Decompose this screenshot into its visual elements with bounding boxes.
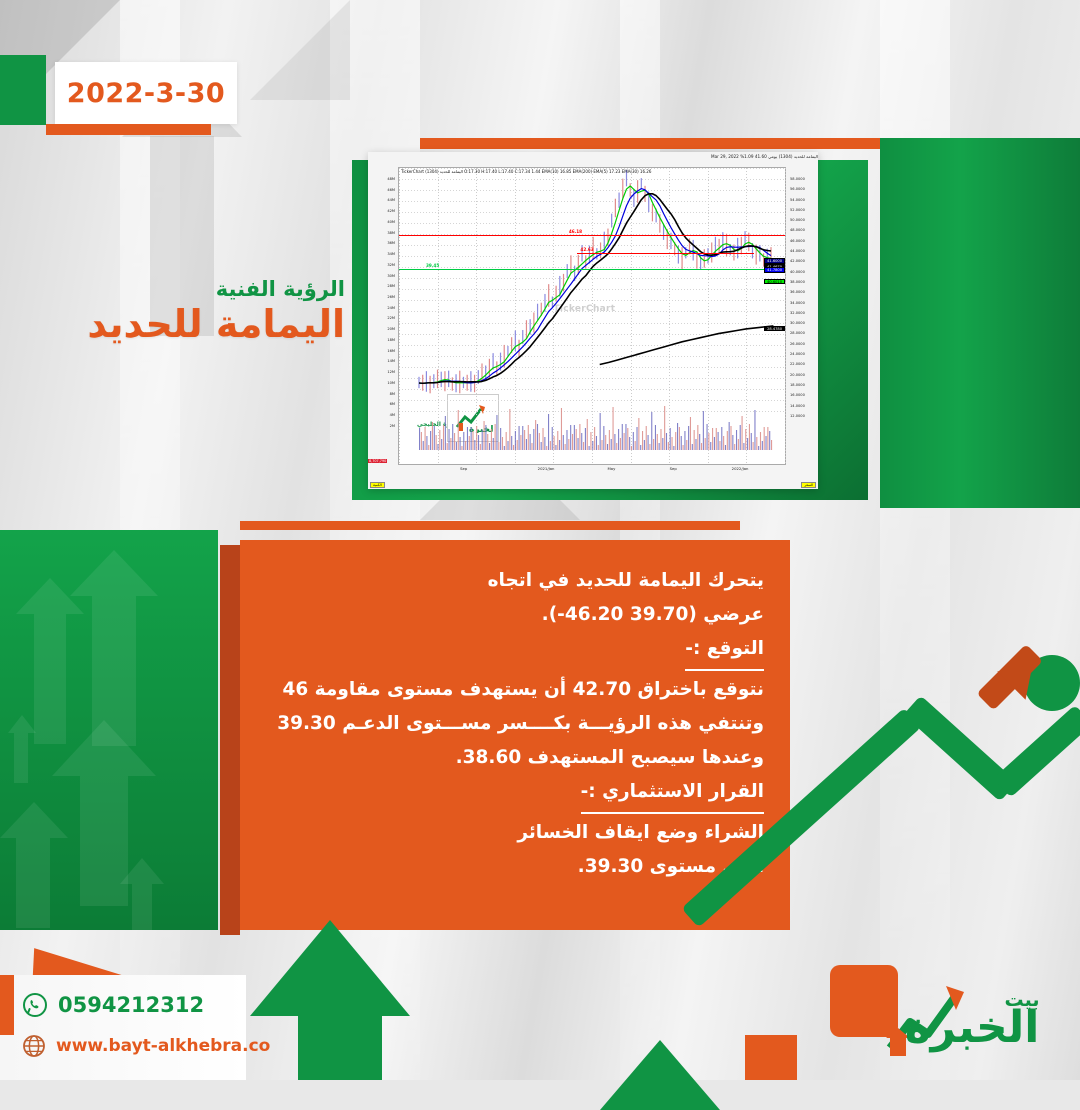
volume-axis-tick: 36M [387, 242, 395, 246]
volume-axis-tick: 38M [387, 232, 395, 236]
volume-axis-tick: 28M [387, 285, 395, 289]
contact-phone[interactable]: 0594212312 [22, 992, 204, 1018]
arrow-up-icon [14, 733, 28, 783]
decorative-green-panel [0, 530, 218, 930]
date-axis-tick: Sep [670, 466, 677, 471]
volume-axis-tick: 12M [387, 371, 395, 375]
volume-axis-tick: 44M [387, 199, 395, 203]
price-axis-tick: 32.0000 [790, 312, 805, 316]
chart-volume-axis-tag: الكمية [370, 482, 385, 488]
support-line [399, 269, 785, 270]
page-title: الرؤية الفنية اليمامة للحديد [60, 278, 345, 347]
chart-gridline [785, 168, 786, 464]
date-axis-tick: Sep [460, 466, 467, 471]
price-axis-tick: 16.0000 [790, 394, 805, 398]
forecast-line-3: وعندها سيصبح المستهدف 38.60. [266, 741, 764, 775]
volume-axis-tick: 42M [387, 210, 395, 214]
volume-axis-tick: 6M [390, 403, 395, 407]
price-axis-tick: 48.0000 [790, 229, 805, 233]
chart-volume-axis: 48M46M44M42M40M38M36M34M32M30M28M26M24M2… [368, 178, 398, 465]
volume-axis-tick: 26M [387, 296, 395, 300]
volume-axis-tick: 10M [387, 382, 395, 386]
price-axis-tick: 44.0000 [790, 250, 805, 254]
date-badge-green-tab [0, 55, 46, 125]
price-axis-tick: 18.0000 [790, 384, 805, 388]
chart-top-accent-bar [420, 138, 890, 149]
analysis-line-2: عرضي (39.70 46.20-). [266, 598, 764, 632]
price-axis-tick: 58.0000 [790, 178, 805, 182]
brand-logo: الخبرة بيت [872, 976, 1062, 1062]
forecast-heading: التوقع :- [685, 632, 764, 670]
price-axis-tick: 50.0000 [790, 219, 805, 223]
price-axis-tick: 14.0000 [790, 405, 805, 409]
date-axis-tick: 2021/Jan [538, 466, 555, 471]
arrow-up-icon [70, 550, 158, 596]
price-level-label: 39.45 [426, 263, 439, 268]
price-axis-tick: 40.0000 [790, 271, 805, 275]
arrow-up-icon [120, 858, 164, 884]
volume-axis-tick: 2M [390, 425, 395, 429]
chart-price-axis: 58.000056.000054.000052.000050.000048.00… [788, 178, 818, 465]
volume-axis-tick: 8M [390, 393, 395, 397]
chart-right-green-slab [880, 138, 1080, 508]
arrow-up-icon [0, 802, 68, 838]
contact-card [0, 975, 246, 1080]
price-axis-tick: 12.0000 [790, 415, 805, 419]
price-tag: 28.4780 [764, 326, 785, 332]
page-subtitle: الرؤية الفنية [60, 278, 345, 301]
price-axis-tick: 20.0000 [790, 374, 805, 378]
panel-top-accent [240, 521, 740, 530]
volume-axis-tick: 40M [387, 221, 395, 225]
arrow-up-icon [298, 1014, 382, 1080]
volume-axis-tick: 14M [387, 360, 395, 364]
chart-quote-text: اليمامة للحديد (1304) يومي 41.60 1.09% M… [711, 154, 818, 159]
decision-line-1: الشراء وضع ايقاف الخسائر [266, 816, 764, 850]
date-badge-underline [46, 124, 211, 135]
volume-axis-tick: 16M [387, 350, 395, 354]
arrow-up-icon [250, 920, 410, 1016]
price-axis-tick: 22.0000 [790, 363, 805, 367]
date-badge-text: 2022-3-30 [67, 78, 225, 109]
arrow-up-icon [16, 838, 50, 928]
price-axis-tick: 56.0000 [790, 188, 805, 192]
decision-heading: القرار الاستثماري :- [581, 775, 764, 813]
chart-body: 48M46M44M42M40M38M36M34M32M30M28M26M24M2… [368, 163, 818, 489]
contact-card-accent [0, 975, 14, 1035]
price-axis-tick: 28.0000 [790, 332, 805, 336]
chart-indicator-legend: TickerChart اليمامة للحديد (1304) O:17.3… [401, 169, 651, 174]
chart-plot-area[interactable]: TickerChart اليمامة للحديد (1304) O:17.3… [398, 167, 786, 465]
resistance-line [577, 253, 755, 254]
arrow-up-icon [132, 884, 152, 930]
chart-volume-last-tag: 8,707,790 [368, 459, 387, 463]
price-level-label: 42.63 [580, 247, 593, 252]
price-axis-tick: 26.0000 [790, 343, 805, 347]
contact-website[interactable]: www.bayt-alkhebra.co [22, 1034, 270, 1058]
arrow-up-icon [8, 715, 36, 733]
volume-axis-tick: 24M [387, 307, 395, 311]
contact-website-text: www.bayt-alkhebra.co [56, 1036, 270, 1056]
stock-chart[interactable]: اليمامة للحديد (1304) يومي 41.60 1.09% M… [368, 152, 818, 489]
decision-line-2: أدنى مستوى 39.30. [266, 850, 764, 884]
page-title-main: اليمامة للحديد [60, 303, 345, 347]
contact-phone-text: 0594212312 [58, 993, 204, 1017]
volume-axis-tick: 46M [387, 189, 395, 193]
forecast-line-1: نتوقع باختراق 42.70 أن يستهدف مستوى مقاو… [266, 673, 764, 707]
date-axis-tick: 2022/Jan [732, 466, 749, 471]
price-axis-tick: 54.0000 [790, 199, 805, 203]
chart-series-layer [399, 168, 785, 464]
price-axis-tick: 46.0000 [790, 240, 805, 244]
volume-axis-tick: 32M [387, 264, 395, 268]
chart-quote-bar: اليمامة للحديد (1304) يومي 41.60 1.09% M… [368, 152, 818, 163]
volume-axis-tick: 22M [387, 317, 395, 321]
date-axis-tick: May [608, 466, 616, 471]
arrow-up-icon [52, 720, 156, 776]
arrow-up-icon [600, 1040, 720, 1110]
brand-name-sub: بيت [1004, 989, 1039, 1011]
analysis-line-1: يتحرك اليمامة للحديد في اتجاه [266, 564, 764, 598]
price-axis-tick: 34.0000 [790, 302, 805, 306]
chart-price-axis-tag: السعر [801, 482, 816, 488]
price-level-label: 46.18 [569, 229, 582, 234]
analysis-panel: يتحرك اليمامة للحديد في اتجاه عرضي (39.7… [240, 540, 790, 930]
volume-axis-tick: 20M [387, 328, 395, 332]
globe-icon [22, 1034, 46, 1058]
forecast-line-2: وتنتفي هذه الرؤيـــة بكــــسر مســـتوى ا… [266, 707, 764, 741]
resistance-line [399, 235, 785, 236]
volume-axis-tick: 48M [387, 178, 395, 182]
volume-axis-tick: 18M [387, 339, 395, 343]
price-tag: 41.7800 [764, 267, 785, 273]
price-axis-tick: 30.0000 [790, 322, 805, 326]
price-tag: 40.6010 [764, 279, 785, 285]
volume-axis-tick: 30M [387, 275, 395, 279]
price-axis-tick: 36.0000 [790, 291, 805, 295]
chart-date-axis: Sep2021/JanMaySep2022/Jan [398, 466, 786, 476]
price-axis-tick: 24.0000 [790, 353, 805, 357]
decorative-orange-square-small [745, 1035, 797, 1080]
volume-axis-tick: 4M [390, 414, 395, 418]
date-badge: 2022-3-30 [55, 62, 237, 124]
bayt-alkhebra-logo-icon: الخبرة بيت [872, 976, 1062, 1062]
panel-left-shadow [220, 545, 240, 935]
price-axis-tick: 42.0000 [790, 260, 805, 264]
whatsapp-icon [22, 992, 48, 1018]
arrow-up-icon [80, 776, 128, 906]
volume-axis-tick: 34M [387, 253, 395, 257]
price-axis-tick: 38.0000 [790, 281, 805, 285]
price-axis-tick: 52.0000 [790, 209, 805, 213]
background-triangle [250, 0, 350, 100]
